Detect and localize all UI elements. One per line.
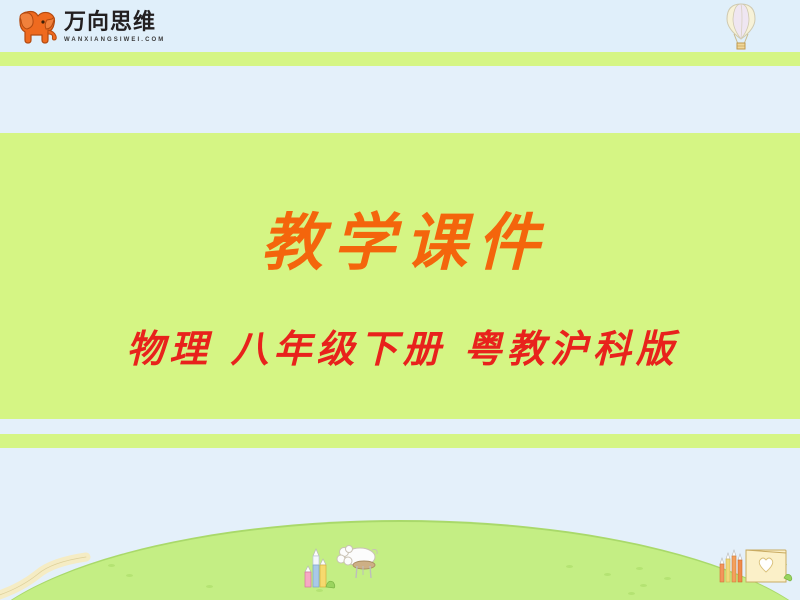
grass-tuft (636, 567, 643, 570)
green-band-bottom (0, 434, 800, 448)
grass-tuft (604, 573, 611, 576)
grass-tuft (628, 592, 635, 595)
grass-tuft (640, 584, 647, 587)
courseware-title-slide: 万向思维 WANXIANGSIWEI.COM 教学课件 物理 八年级下册 粤教沪… (0, 0, 800, 600)
page-title: 教学课件 (0, 192, 800, 282)
grass-tuft (664, 577, 671, 580)
green-band-top (0, 52, 800, 66)
grass-tuft (206, 585, 213, 588)
grass-tuft (108, 564, 115, 567)
logo-wordmark: 万向思维 WANXIANGSIWEI.COM (64, 12, 165, 43)
brand-logo[interactable]: 万向思维 WANXIANGSIWEI.COM (14, 6, 174, 48)
logo-name-en: WANXIANGSIWEI.COM (64, 37, 165, 43)
logo-name-cn: 万向思维 (64, 12, 165, 34)
grass-tuft (566, 565, 573, 568)
sheep-icon (330, 542, 382, 582)
grass-hill-icon (0, 520, 800, 600)
page-subtitle: 物理 八年级下册 粤教沪科版 (0, 318, 800, 373)
grass-tuft (126, 574, 133, 577)
elephant-icon (14, 8, 60, 46)
hot-air-balloon-icon (718, 2, 764, 52)
heart-card-icon (718, 544, 794, 590)
